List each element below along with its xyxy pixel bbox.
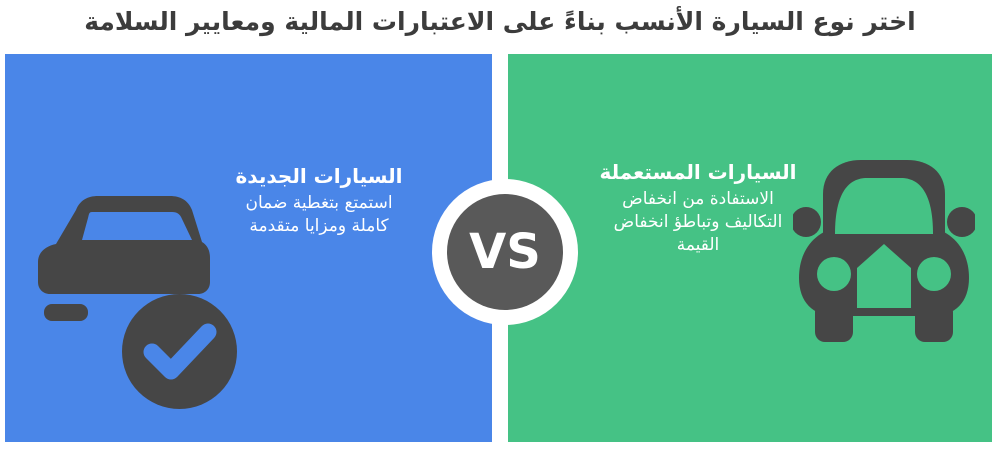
panel-used-cars[interactable]: السيارات المستعملة الاستفادة من انخفاض ا… [508,54,992,442]
vs-badge: VS [432,179,578,325]
page-title: اختر نوع السيارة الأنسب بناءً على الاعتب… [0,2,1000,50]
used-cars-text-block: السيارات المستعملة الاستفادة من انخفاض ا… [573,159,823,257]
panel-new-cars[interactable]: السيارات الجديدة استمتع بتغطية ضمان كامل… [5,54,492,442]
infographic-canvas: اختر نوع السيارة الأنسب بناءً على الاعتب… [0,0,1000,452]
used-cars-title: السيارات المستعملة [573,159,823,185]
vs-badge-label: VS [447,194,563,310]
new-cars-body-line-2: كاملة ومزايا متقدمة [195,215,443,238]
used-cars-body: الاستفادة من انخفاض التكاليف وتباطؤ انخف… [573,188,823,257]
check-badge-icon [122,294,237,409]
new-cars-body: استمتع بتغطية ضمان كاملة ومزايا متقدمة [195,192,443,238]
new-cars-title: السيارات الجديدة [195,163,443,189]
new-cars-body-line-1: استمتع بتغطية ضمان [195,192,443,215]
used-cars-body-line-2: التكاليف وتباطؤ انخفاض [573,211,823,234]
new-cars-text-block: السيارات الجديدة استمتع بتغطية ضمان كامل… [195,163,443,238]
used-cars-body-line-3: القيمة [573,234,823,257]
used-cars-body-line-1: الاستفادة من انخفاض [573,188,823,211]
